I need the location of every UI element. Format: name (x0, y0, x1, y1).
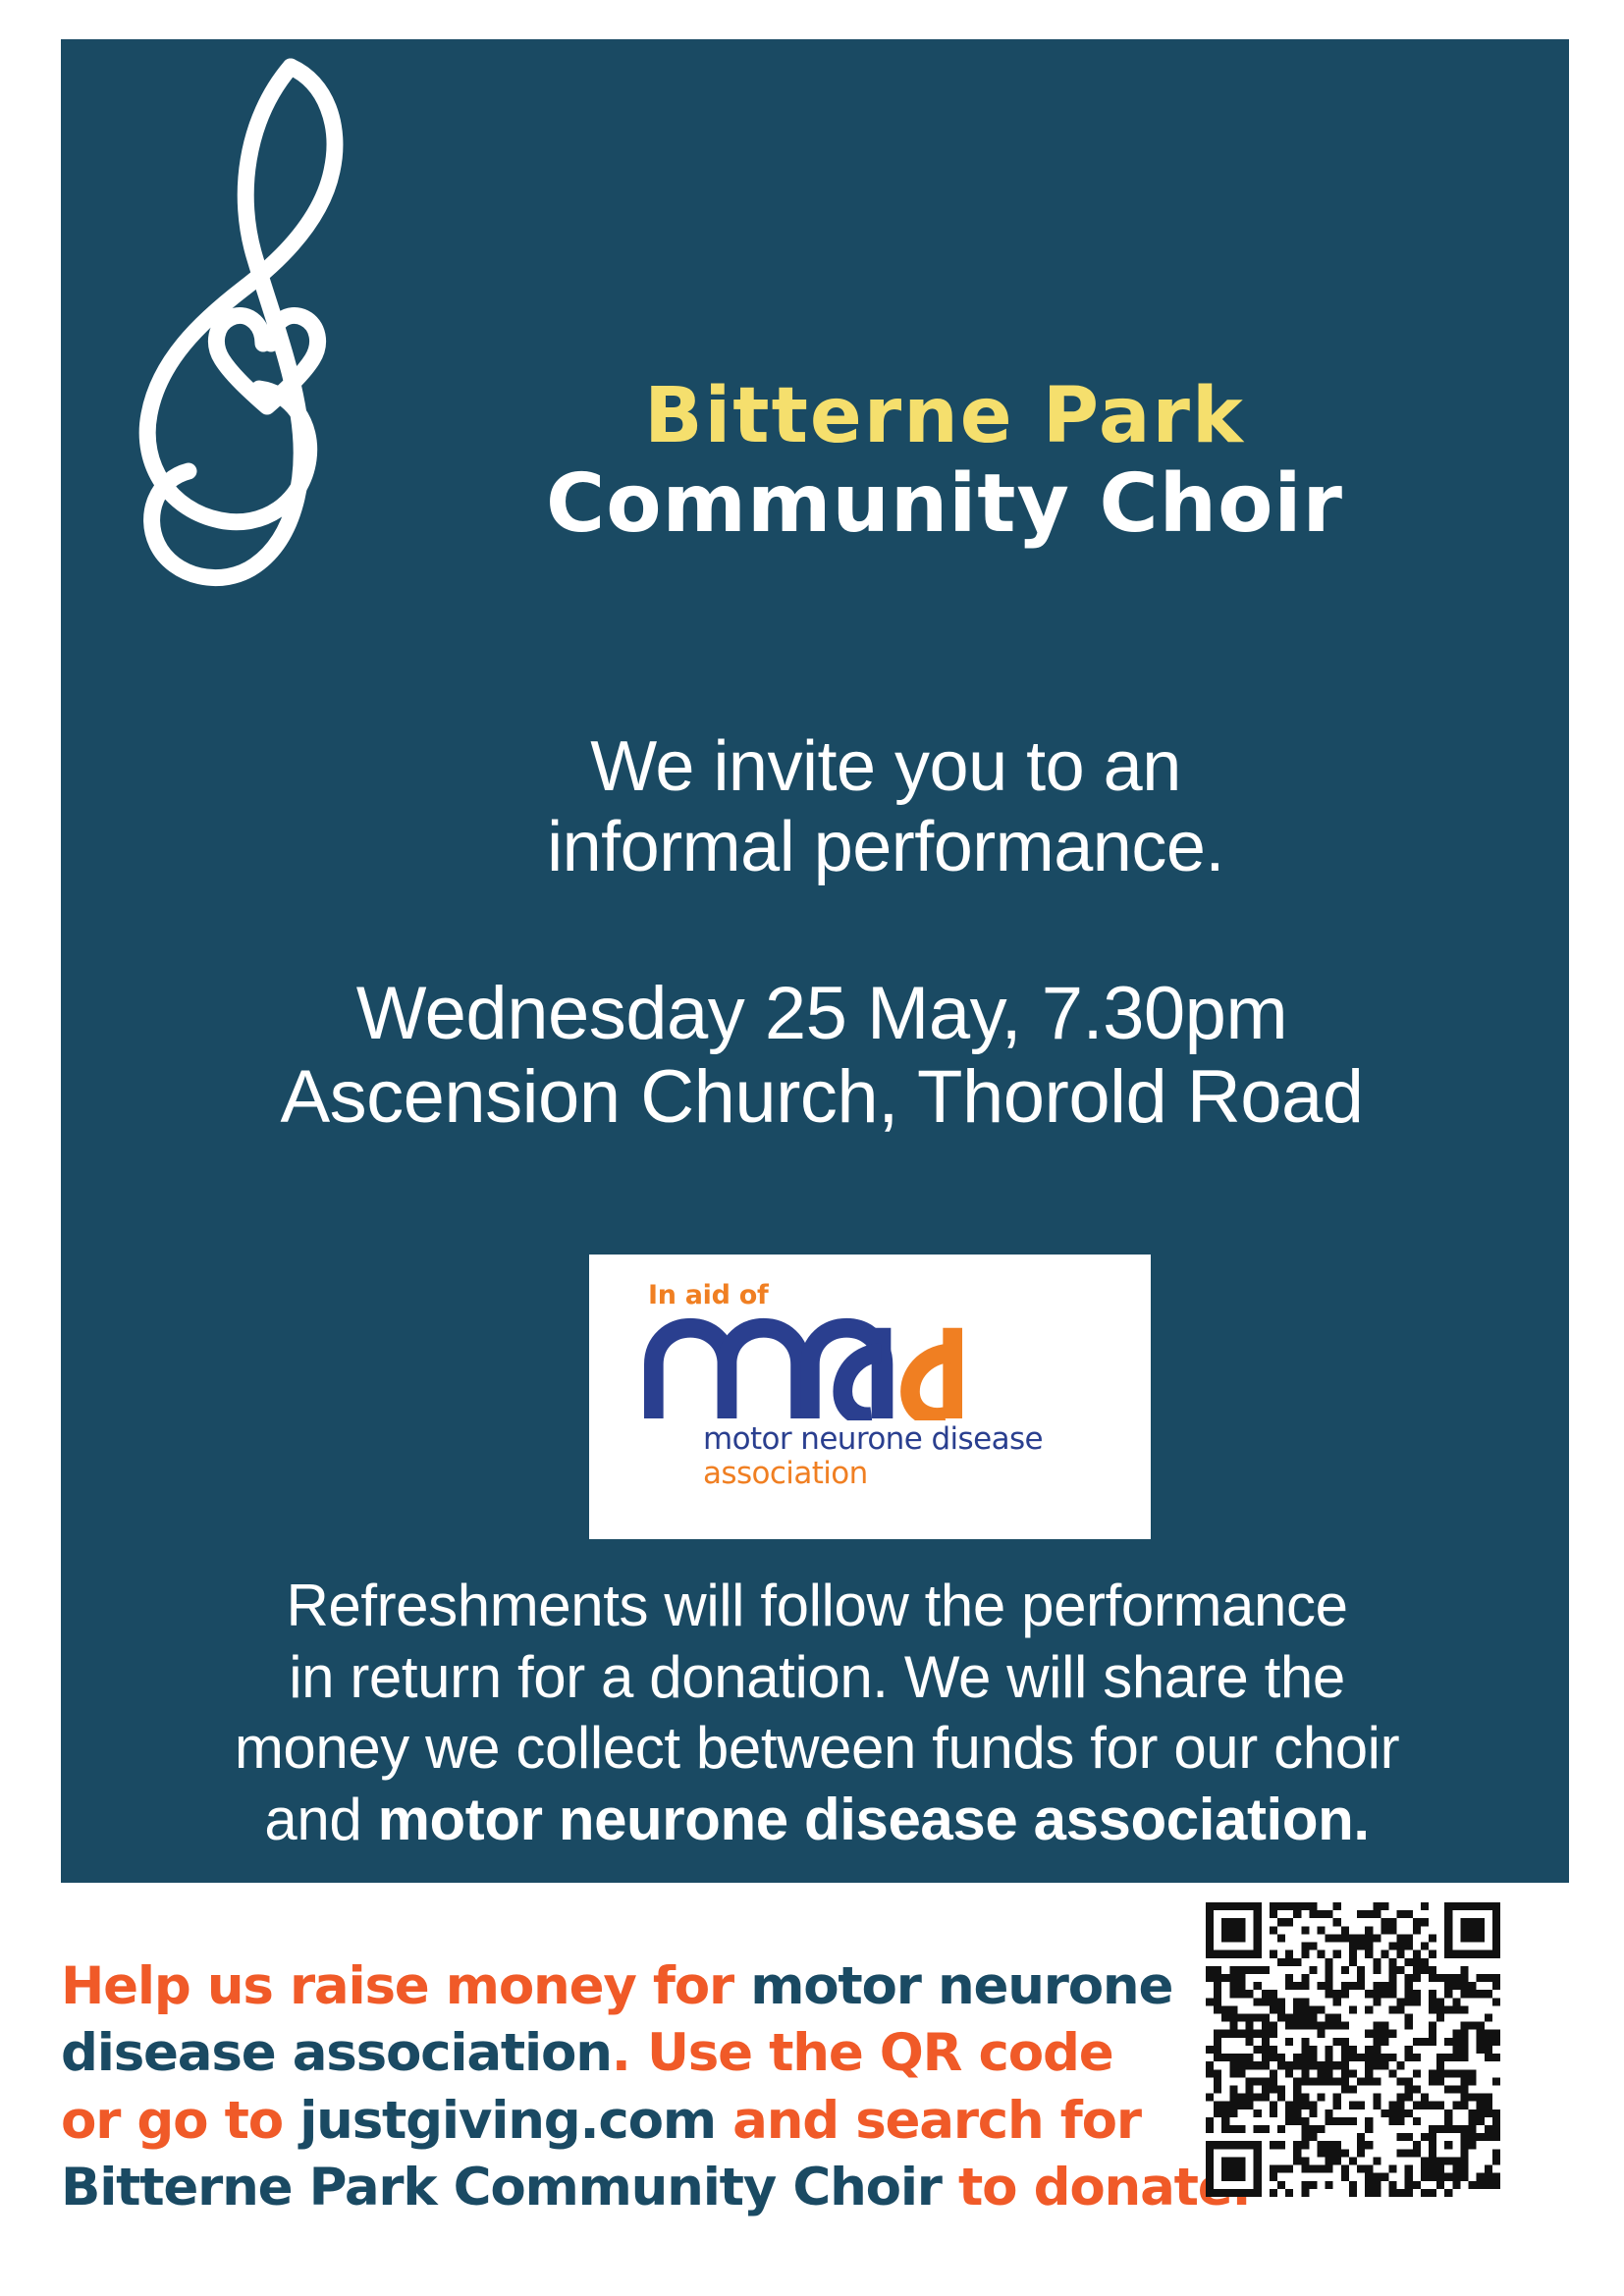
footer-line-4-part-a: Bitterne Park Community Choir (61, 2158, 958, 2217)
refreshments-line-2: in return for a donation. We will share … (120, 1642, 1514, 1714)
event-date-time: Wednesday 25 May, 7.30pm (139, 972, 1504, 1055)
footer-line-2-part-b: . Use the QR code (612, 2023, 1113, 2083)
footer-line-3-part-a: or go to (61, 2091, 299, 2151)
footer-line-2: disease association. Use the QR code (61, 2020, 1141, 2087)
qr-code[interactable] (1206, 1902, 1500, 2197)
event-details: Wednesday 25 May, 7.30pm Ascension Churc… (139, 972, 1504, 1139)
footer-line-1-part-a: Help us raise money for (61, 1956, 750, 2016)
title-line-2: Community Choir (355, 454, 1534, 556)
title-line-1: Bitterne Park (355, 378, 1534, 454)
refreshments-line-3: money we collect between funds for our c… (120, 1713, 1514, 1785)
invitation-line-1: We invite you to an (306, 726, 1465, 807)
refreshments-line-1: Refreshments will follow the performance (120, 1571, 1514, 1642)
refreshments-paragraph: Refreshments will follow the performance… (120, 1571, 1514, 1855)
charity-subtitle-line-1: motor neurone disease (703, 1422, 1092, 1457)
footer-line-4: Bitterne Park Community Choir to donate. (61, 2155, 1141, 2221)
poster-main-panel: Bitterne Park Community Choir We invite … (61, 39, 1569, 1883)
event-venue: Ascension Church, Thorold Road (139, 1055, 1504, 1139)
footer-line-1-part-b: motor neurone (750, 1956, 1172, 2016)
charity-logo-card: In aid of (589, 1255, 1151, 1539)
footer-line-3: or go to justgiving.com and search for (61, 2088, 1141, 2155)
footer-line-3-part-c: and search for (716, 2091, 1141, 2151)
footer-line-1: Help us raise money for motor neurone (61, 1953, 1141, 2020)
charity-subtitle-line-2: association (703, 1457, 1092, 1491)
refreshments-line-4-regular: and (264, 1787, 377, 1852)
footer-line-2-part-a: disease association (61, 2023, 612, 2083)
refreshments-line-4: and motor neurone disease association. (120, 1785, 1514, 1856)
footer-line-3-part-b[interactable]: justgiving.com (299, 2091, 716, 2151)
mnda-wordmark-icon (644, 1314, 1092, 1420)
invitation-line-2: informal performance. (306, 807, 1465, 887)
in-aid-of-label: In aid of (648, 1282, 1092, 1308)
invitation-text: We invite you to an informal performance… (306, 726, 1465, 887)
poster-title: Bitterne Park Community Choir (355, 378, 1534, 556)
donation-footer-text: Help us raise money for motor neurone di… (61, 1953, 1141, 2221)
refreshments-line-4-bold: motor neurone disease association. (378, 1787, 1370, 1852)
